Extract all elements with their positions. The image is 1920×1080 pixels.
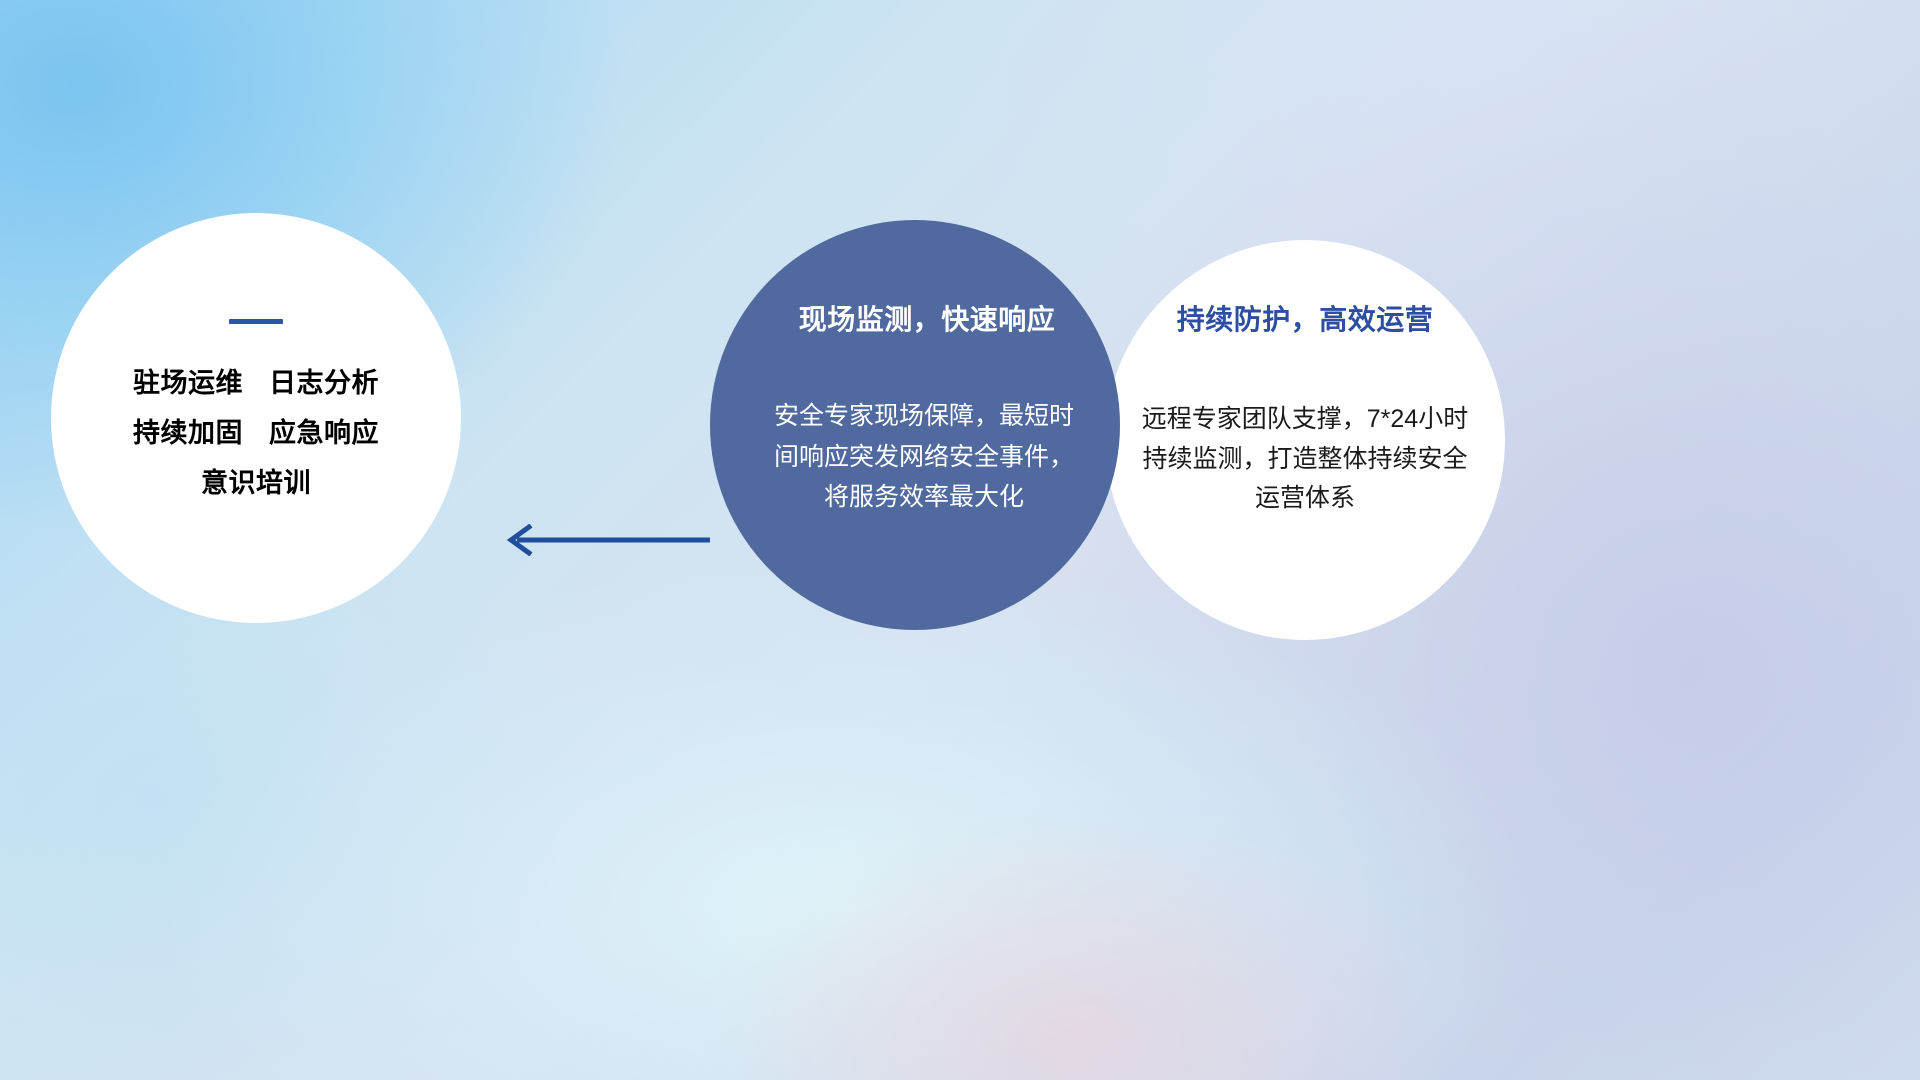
capability-label: 应急响应 [269,418,379,448]
capability-label: 意识培训 [201,468,311,498]
list-item: 持续加固应急响应 [133,418,379,449]
capability-label: 持续加固 [133,418,243,448]
capability-list: 驻场运维日志分析 持续加固应急响应 意识培训 [133,368,379,499]
slide-canvas: 驻场运维日志分析 持续加固应急响应 意识培训 现场监测，快速响应 安全专家现场保… [0,0,1920,1080]
capability-label: 日志分析 [269,368,379,398]
left-circle-content: 驻场运维日志分析 持续加固应急响应 意识培训 [51,213,461,623]
flow-arrow-left-icon [495,524,710,556]
right-circle-content: 持续防护，高效运营 远程专家团队支撑，7*24小时持续监测，打造整体持续安全运营… [1105,240,1505,640]
middle-circle-shape[interactable] [710,220,1120,630]
list-item: 驻场运维日志分析 [133,368,379,399]
right-circle-title: 持续防护，高效运营 [1177,298,1434,338]
capability-label: 驻场运维 [133,368,243,398]
list-item: 意识培训 [201,468,311,499]
right-circle-body: 远程专家团队支撑，7*24小时持续监测，打造整体持续安全运营体系 [1132,400,1478,519]
accent-dash-icon [229,319,283,324]
